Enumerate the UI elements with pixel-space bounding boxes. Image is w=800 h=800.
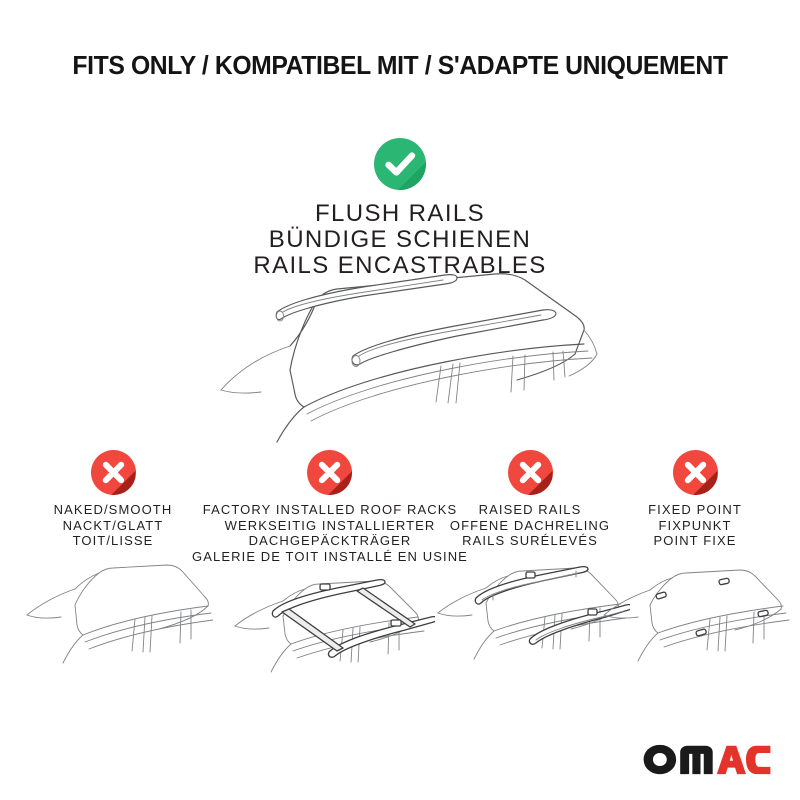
rejected-label-de: FIXPUNKT: [658, 518, 731, 534]
rejected-label-de-2: DACHGEPÄCKTRÄGER: [249, 533, 412, 549]
page-title: FITS ONLY / KOMPATIBEL MIT / S'ADAPTE UN…: [12, 52, 788, 81]
rejected-label-fr: RAILS SURÉLEVÉS: [462, 533, 598, 549]
rejected-label-en: FACTORY INSTALLED ROOF RACKS: [203, 502, 458, 518]
rejected-item-fixed-point: FIXED POINT FIXPUNKT POINT FIXE: [600, 450, 790, 690]
x-circle-icon: [508, 450, 553, 495]
car-roof-fixed-point-illustration: [600, 553, 790, 690]
x-circle-icon: [91, 450, 136, 495]
x-circle-icon: [307, 450, 352, 495]
rejected-label-en: RAISED RAILS: [479, 502, 582, 518]
rejected-label-fr: TOIT/LISSE: [73, 533, 154, 549]
approved-label-en: FLUSH RAILS: [315, 201, 485, 227]
rejected-label-en: NAKED/SMOOTH: [54, 502, 173, 518]
car-roof-naked-smooth-illustration: [13, 553, 213, 703]
rejected-item-factory-roof-racks: FACTORY INSTALLED ROOF RACKS WERKSEITIG …: [192, 450, 468, 705]
check-circle-icon: [374, 138, 426, 190]
rejected-label-fr: GALERIE DE TOIT INSTALLÉ EN USINE: [192, 549, 468, 565]
rejected-label-en: FIXED POINT: [648, 502, 742, 518]
compatibility-infographic: FITS ONLY / KOMPATIBEL MIT / S'ADAPTE UN…: [0, 0, 800, 800]
rejected-label-de: NACKT/GLATT: [63, 518, 164, 534]
car-roof-factory-roof-racks-illustration: [225, 568, 435, 705]
rejected-section: NAKED/SMOOTH NACKT/GLATT TOIT/LISSE: [0, 450, 800, 700]
omac-logo: [642, 742, 772, 776]
x-circle-icon: [673, 450, 718, 495]
rejected-label-de-1: WERKSEITIG INSTALLIERTER: [225, 518, 436, 534]
approved-section: FLUSH RAILS BÜNDIGE SCHIENEN RAILS ENCAS…: [0, 138, 800, 279]
car-roof-flush-rails-illustration: [195, 262, 615, 452]
rejected-label-de: OFFENE DACHRELING: [450, 518, 610, 534]
approved-label-de: BÜNDIGE SCHIENEN: [269, 227, 531, 253]
rejected-label-fr: POINT FIXE: [654, 533, 737, 549]
rejected-item-naked-smooth: NAKED/SMOOTH NACKT/GLATT TOIT/LISSE: [13, 450, 213, 703]
